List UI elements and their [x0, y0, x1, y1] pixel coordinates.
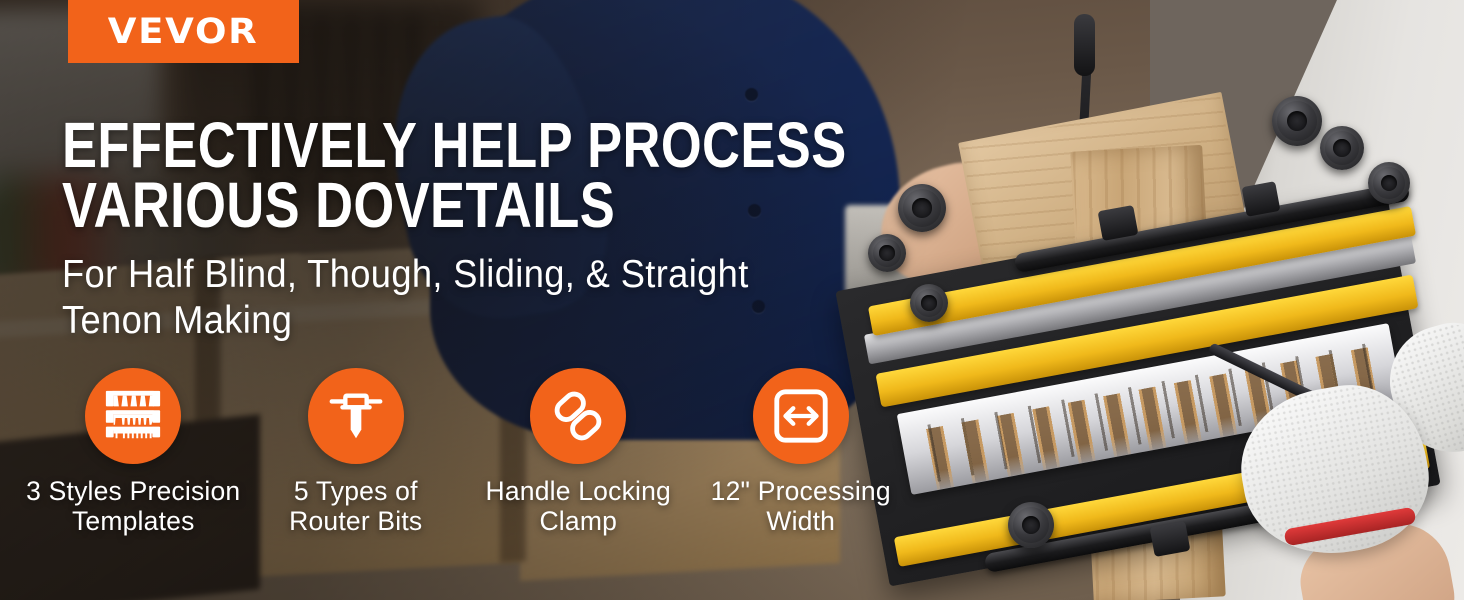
feature-icon-badge — [753, 368, 849, 464]
width-arrow-icon — [770, 385, 832, 447]
feature-item-templates: 3 Styles Precision Templates — [22, 368, 245, 558]
feature-item-processing-width: 12" Processing Width — [690, 368, 913, 558]
jig-knob — [868, 234, 906, 272]
feature-icon-badge — [85, 368, 181, 464]
router-bit-icon — [325, 385, 387, 447]
jig-knob — [1008, 502, 1054, 548]
vevor-logo[interactable]: VEVOR — [68, 0, 299, 63]
feature-item-locking-clamp: Handle Locking Clamp — [467, 368, 690, 558]
headline-line-2: VARIOUS DOVETAILS — [62, 176, 702, 236]
feature-icon-badge — [308, 368, 404, 464]
feature-label: 12" Processing Width — [711, 477, 891, 536]
jig-knob — [1272, 96, 1322, 146]
vevor-logo-text: VEVOR — [108, 12, 259, 52]
dovetail-templates-icon — [102, 385, 164, 447]
jig-knob — [910, 284, 948, 322]
headline-line-1: EFFECTIVELY HELP PROCESS — [62, 116, 702, 176]
jig-lever-grip — [1074, 14, 1095, 76]
feature-icon-badge — [530, 368, 626, 464]
jig-knob — [1320, 126, 1364, 170]
subtitle: For Half Blind, Though, Sliding, & Strai… — [62, 252, 806, 343]
rod-collar — [1242, 181, 1281, 217]
feature-label: 3 Styles Precision Templates — [26, 477, 240, 536]
chain-link-icon — [547, 385, 609, 447]
page-title: EFFECTIVELY HELP PROCESS VARIOUS DOVETAI… — [62, 116, 702, 235]
product-photo-dovetail-jig — [852, 88, 1464, 600]
feature-list: 3 Styles Precision Templates 5 Types of … — [22, 368, 912, 558]
subheadline-line-2: Tenon Making — [62, 298, 806, 344]
jig-knob — [1368, 162, 1410, 204]
jig-knob — [898, 184, 946, 232]
subheadline-line-1: For Half Blind, Though, Sliding, & Strai… — [62, 252, 806, 298]
feature-label: 5 Types of Router Bits — [289, 477, 422, 536]
feature-label: Handle Locking Clamp — [486, 477, 671, 536]
promo-banner: VEVOR EFFECTIVELY HELP PROCESS VARIOUS D… — [0, 0, 1464, 600]
feature-item-router-bits: 5 Types of Router Bits — [245, 368, 468, 558]
